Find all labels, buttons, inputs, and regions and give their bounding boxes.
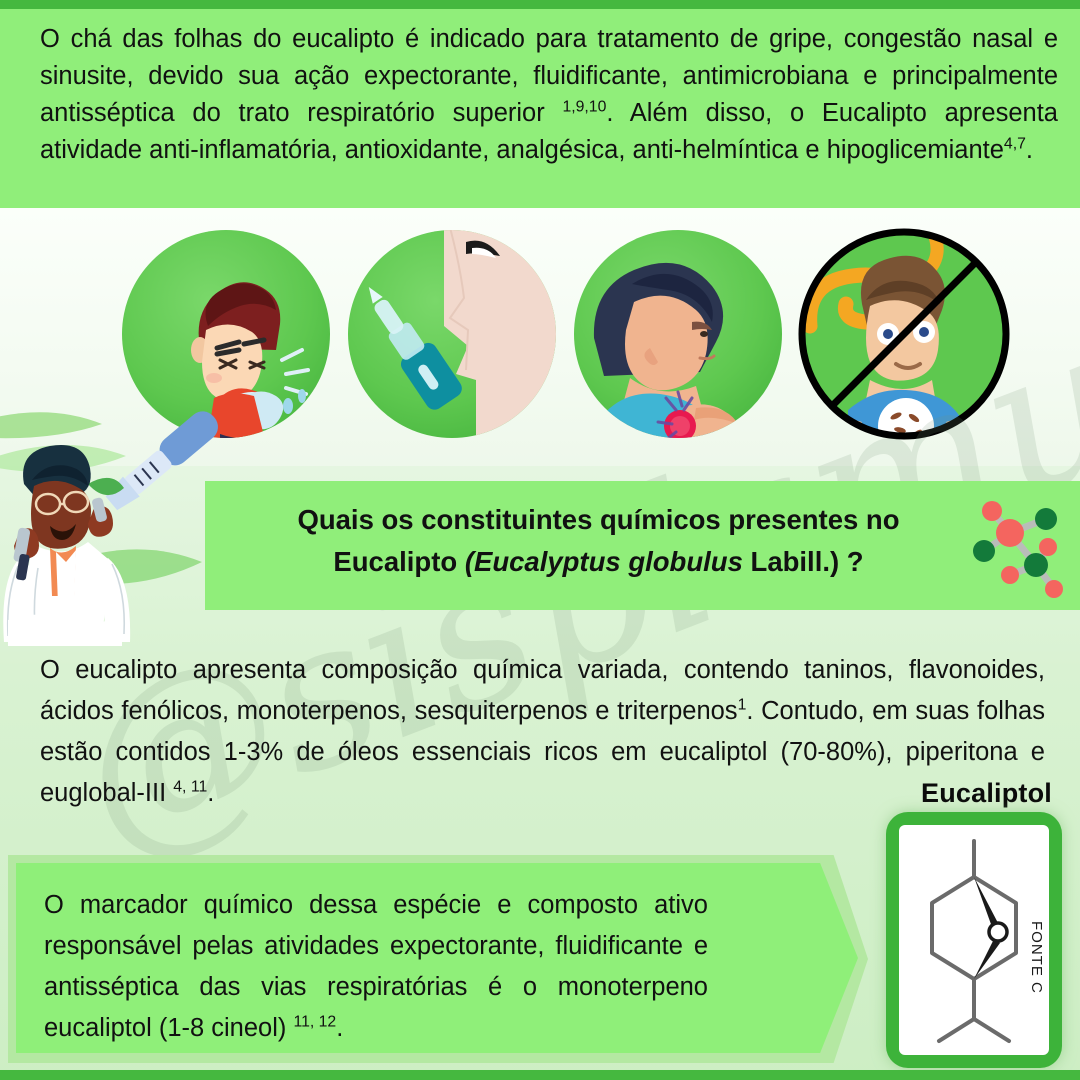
marker-paragraph: O marcador químico dessa espécie e compo… — [44, 885, 708, 1049]
oxygen-atom-icon — [989, 923, 1007, 941]
question-banner: Quais os constituintes químicos presente… — [205, 481, 1080, 610]
circle-man-sneezing — [122, 230, 330, 438]
question-line-2-prefix: Eucalipto — [333, 546, 464, 577]
circle-sore-throat — [574, 230, 782, 438]
marker-ref-1: 11, 12 — [293, 1014, 336, 1031]
composition-paragraph-block: O eucalipto apresenta composição química… — [40, 650, 1045, 814]
marker-callout: O marcador químico dessa espécie e compo… — [8, 855, 868, 1063]
illustration-strip — [0, 208, 1080, 466]
intro-paragraph-block: O chá das folhas do eucalipto é indicado… — [0, 9, 1080, 208]
intro-ref-1: 1,9,10 — [562, 99, 606, 116]
circle-no-worms-child — [800, 230, 1008, 438]
infographic-page: O chá das folhas do eucalipto é indicado… — [0, 0, 1080, 1080]
question-line-2-suffix: Labill.) ? — [743, 546, 864, 577]
marker-text-1: O marcador químico dessa espécie e compo… — [44, 891, 708, 1042]
eucalyptol-skeletal-structure-icon — [899, 825, 1049, 1055]
bottom-green-band — [0, 1070, 1080, 1080]
molecule-icon — [970, 489, 1074, 601]
composition-ref-2: 4, 11 — [173, 779, 207, 796]
intro-paragraph: O chá das folhas do eucalipto é indicado… — [40, 21, 1058, 169]
top-green-band — [0, 0, 1080, 9]
question-line-2: Eucalipto (Eucalyptus globulus Labill.) … — [227, 541, 970, 583]
composition-text-3: . — [207, 779, 214, 807]
eucaliptol-structure-card: FONTE C — [886, 812, 1062, 1068]
question-species-italic: (Eucalyptus globulus — [465, 546, 743, 577]
intro-text-3: . — [1026, 136, 1033, 164]
structure-source-label: FONTE C — [1028, 921, 1045, 994]
marker-text-2: . — [336, 1014, 343, 1042]
circle-nasal-spray — [348, 230, 556, 438]
structure-canvas: FONTE C — [899, 825, 1049, 1055]
intro-ref-2: 4,7 — [1004, 136, 1026, 153]
question-line-1: Quais os constituintes químicos presente… — [227, 499, 970, 541]
marker-callout-body: O marcador químico dessa espécie e compo… — [16, 863, 858, 1053]
eucaliptol-title: Eucaliptol — [921, 778, 1052, 809]
composition-paragraph: O eucalipto apresenta composição química… — [40, 650, 1045, 814]
